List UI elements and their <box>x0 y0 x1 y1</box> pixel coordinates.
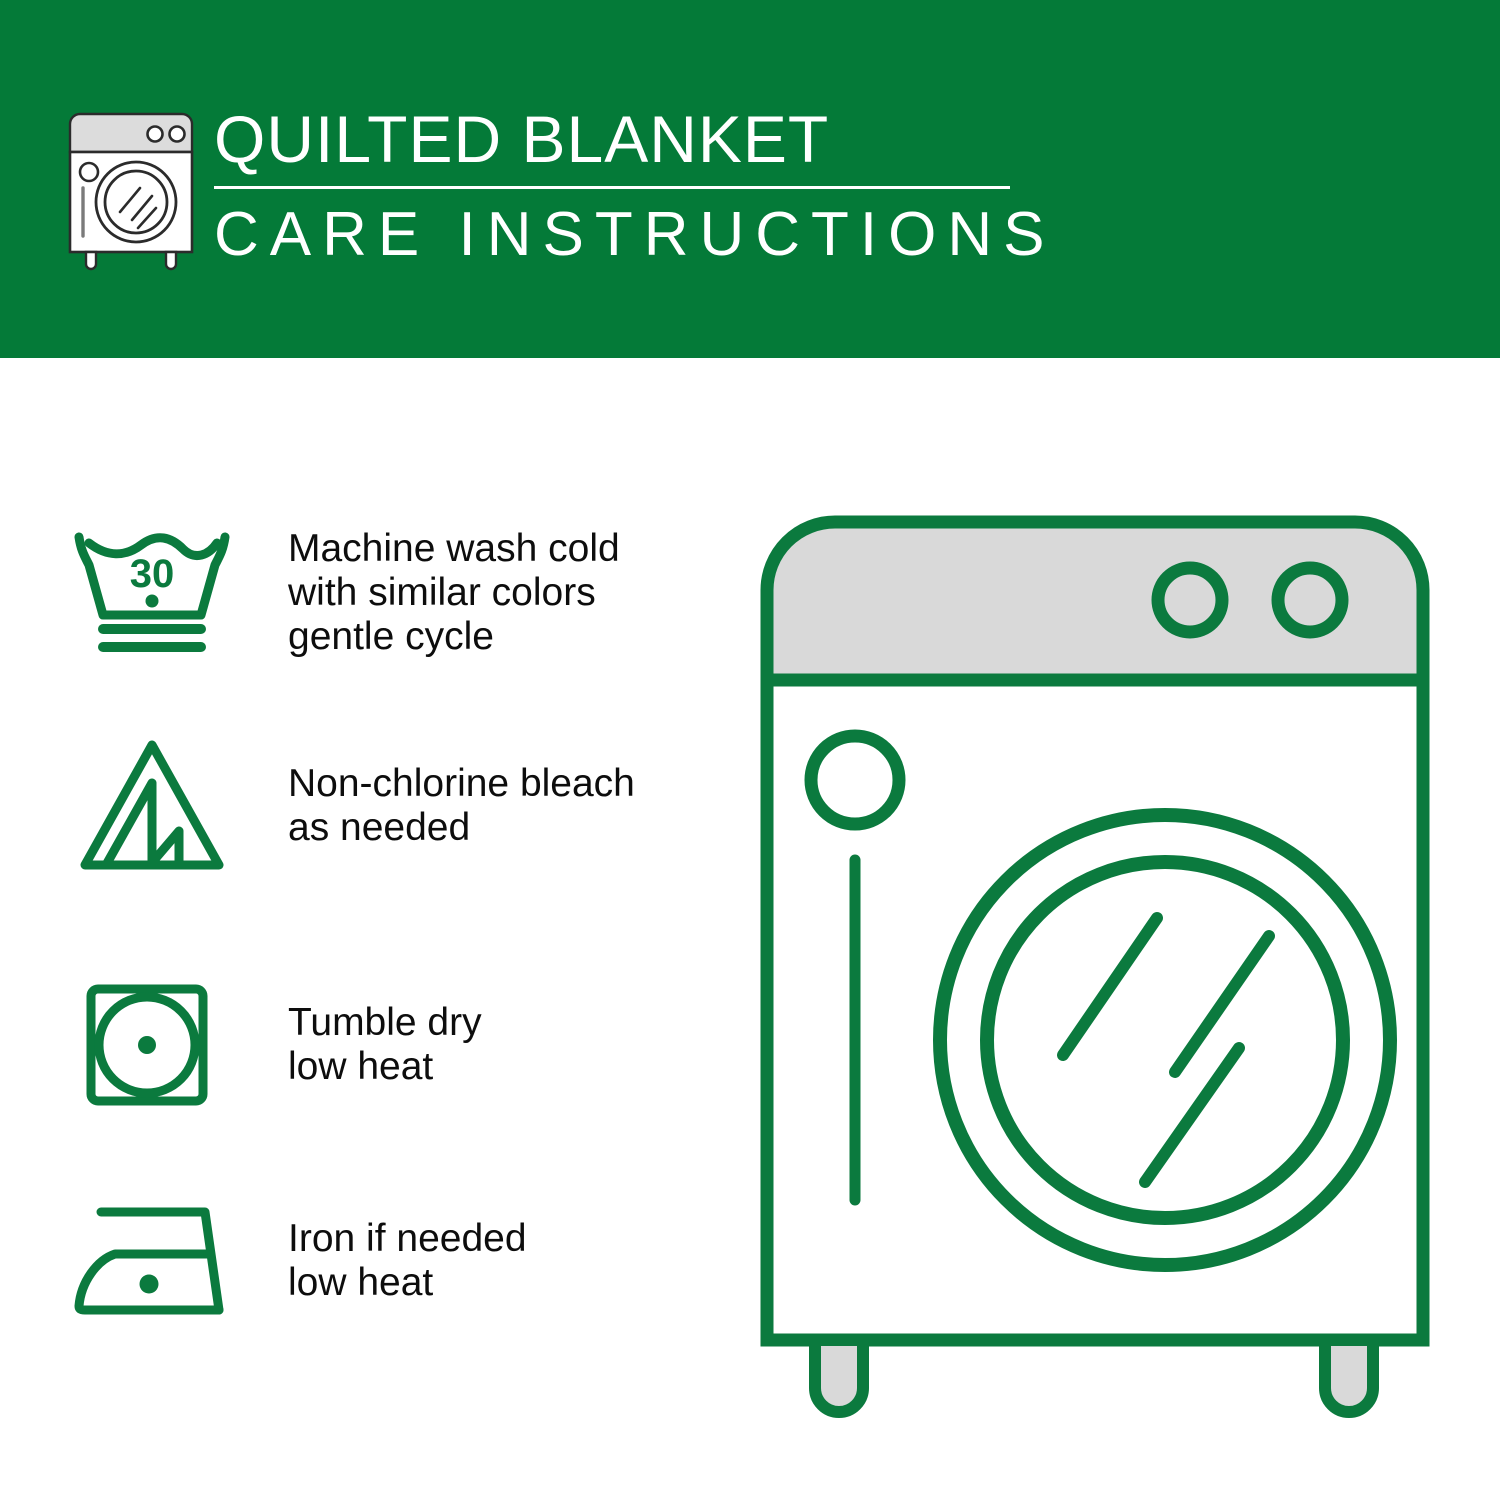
tumble-dry-low-icon <box>62 970 242 1120</box>
header-divider <box>214 186 1010 189</box>
care-item-machine-wash: 30 Machine wash cold with similar colors… <box>0 508 740 678</box>
care-item-iron-text: Iron if needed low heat <box>288 1217 527 1305</box>
indicator-light <box>811 736 899 824</box>
knob-left <box>1158 568 1222 632</box>
header-text-block: QUILTED BLANKET CARE INSTRUCTIONS <box>214 100 1014 271</box>
leg-left <box>815 1340 863 1412</box>
non-chlorine-bleach-triangle-icon <box>62 726 242 886</box>
washing-machine-icon <box>62 104 200 272</box>
page-title: QUILTED BLANKET <box>214 100 1014 178</box>
drum-inner-ring <box>987 862 1343 1218</box>
care-text-line: Machine wash cold <box>288 527 620 571</box>
iron-low-heat-icon <box>62 1186 242 1336</box>
care-item-bleach: Non-chlorine bleach as needed <box>0 726 740 886</box>
page-subtitle: CARE INSTRUCTIONS <box>214 199 1014 271</box>
front-load-washing-machine-illustration <box>745 500 1445 1420</box>
care-item-tumble-dry-text: Tumble dry low heat <box>288 1001 482 1089</box>
wash-tub-30-icon: 30 <box>62 508 242 678</box>
care-text-line: Iron if needed <box>288 1217 527 1261</box>
care-text-line: low heat <box>288 1045 482 1089</box>
care-text-line: gentle cycle <box>288 615 620 659</box>
care-text-line: as needed <box>288 806 635 850</box>
care-item-machine-wash-text: Machine wash cold with similar colors ge… <box>288 527 620 659</box>
care-item-bleach-text: Non-chlorine bleach as needed <box>288 762 635 850</box>
care-item-tumble-dry: Tumble dry low heat <box>0 970 740 1120</box>
care-text-line: Tumble dry <box>288 1001 482 1045</box>
leg-right <box>1325 1340 1373 1412</box>
care-text-line: with similar colors <box>288 571 620 615</box>
care-text-line: Non-chlorine bleach <box>288 762 635 806</box>
knob-right <box>1278 568 1342 632</box>
care-text-line: low heat <box>288 1261 527 1305</box>
care-instructions-list: 30 Machine wash cold with similar colors… <box>0 358 740 1500</box>
header-band: QUILTED BLANKET CARE INSTRUCTIONS <box>0 0 1500 358</box>
wash-temperature-value: 30 <box>130 552 175 596</box>
care-item-iron: Iron if needed low heat <box>0 1186 740 1336</box>
